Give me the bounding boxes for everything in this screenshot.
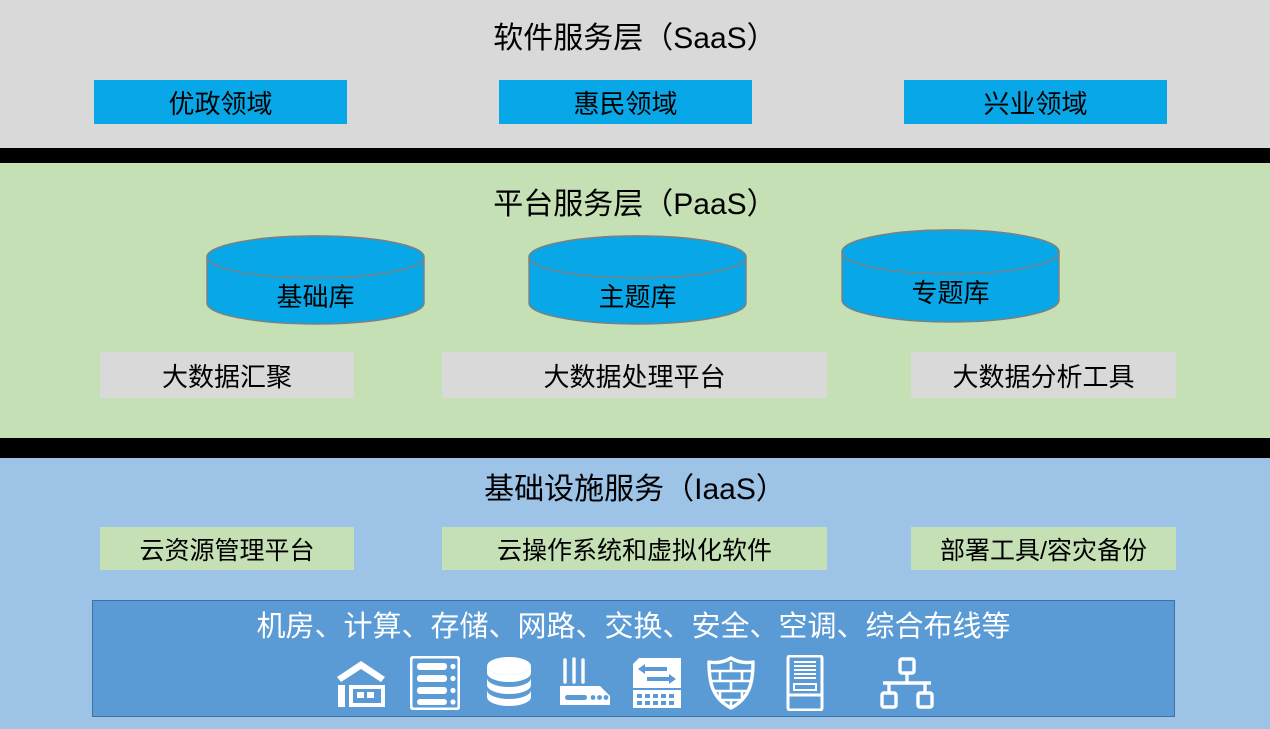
firewall-shield-icon	[702, 655, 760, 711]
infrastructure-label: 机房、计算、存储、网路、交换、安全、空调、综合布线等	[93, 610, 1174, 644]
saas-box-youzheng[interactable]: 优政领域	[94, 80, 347, 124]
paas-cylinder-jichuku-label: 基础库	[206, 277, 425, 314]
iaas-layer-title: 基础设施服务（IaaS）	[0, 473, 1270, 507]
saas-layer-title: 软件服务层（SaaS）	[0, 22, 1270, 56]
paas-cylinder-zhuantiku[interactable]: 专题库	[841, 229, 1060, 323]
server-rack-icon	[406, 655, 464, 711]
infrastructure-panel: 机房、计算、存储、网路、交换、安全、空调、综合布线等	[92, 600, 1175, 717]
air-conditioner-icon	[776, 655, 834, 711]
iaas-box-ziyuan-guanli[interactable]: 云资源管理平台	[100, 527, 354, 570]
paas-cylinder-zhuantiku-label: 专题库	[841, 273, 1060, 310]
cloud-architecture-diagram: 软件服务层（SaaS） 优政领域 惠民领域 兴业领域 平台服务层（PaaS） 基…	[0, 0, 1270, 729]
network-switch-icon	[628, 655, 686, 711]
router-icon	[554, 655, 612, 711]
infrastructure-icon-row	[93, 653, 1174, 713]
paas-cylinder-zhutiku[interactable]: 主题库	[528, 235, 747, 325]
divider-paas-iaas	[0, 438, 1270, 458]
divider-saas-paas	[0, 148, 1270, 163]
database-stack-icon	[480, 655, 538, 711]
paas-box-chuli-pingtai[interactable]: 大数据处理平台	[442, 352, 827, 398]
iaas-box-caozuo-xitong[interactable]: 云操作系统和虚拟化软件	[442, 527, 827, 570]
network-topology-icon	[878, 655, 936, 711]
paas-box-fenxi-gongju[interactable]: 大数据分析工具	[911, 352, 1176, 398]
data-center-building-icon	[332, 655, 390, 711]
saas-box-xingye[interactable]: 兴业领域	[904, 80, 1167, 124]
paas-cylinder-zhutiku-label: 主题库	[528, 277, 747, 314]
iaas-box-bushu-gongju[interactable]: 部署工具/容灾备份	[911, 527, 1176, 570]
paas-box-huiju[interactable]: 大数据汇聚	[100, 352, 354, 398]
paas-layer-title: 平台服务层（PaaS）	[0, 188, 1270, 222]
paas-cylinder-jichuku[interactable]: 基础库	[206, 235, 425, 325]
saas-box-huimin[interactable]: 惠民领域	[499, 80, 752, 124]
